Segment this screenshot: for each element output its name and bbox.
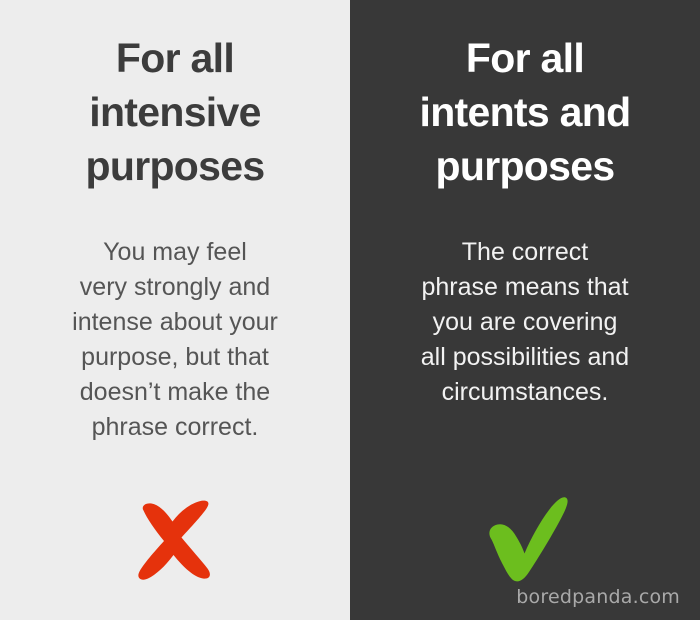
check-mark-icon [481, 494, 569, 582]
incorrect-mark-container [0, 498, 350, 582]
panel-correct: For all intents and purposes The correct… [350, 0, 700, 620]
incorrect-phrase-heading: For all intensive purposes [62, 31, 289, 193]
correct-phrase-heading: For all intents and purposes [396, 31, 655, 193]
correct-mark-container [350, 490, 700, 585]
comparison-infographic: For all intensive purposes You may feel … [0, 0, 700, 620]
incorrect-phrase-description: You may feel very strongly and intense a… [46, 235, 304, 445]
boredpanda-watermark: boredpanda.com [516, 586, 680, 608]
correct-phrase-description: The correct phrase means that you are co… [395, 235, 655, 410]
cross-x-icon [132, 500, 218, 580]
panel-incorrect: For all intensive purposes You may feel … [0, 0, 350, 620]
